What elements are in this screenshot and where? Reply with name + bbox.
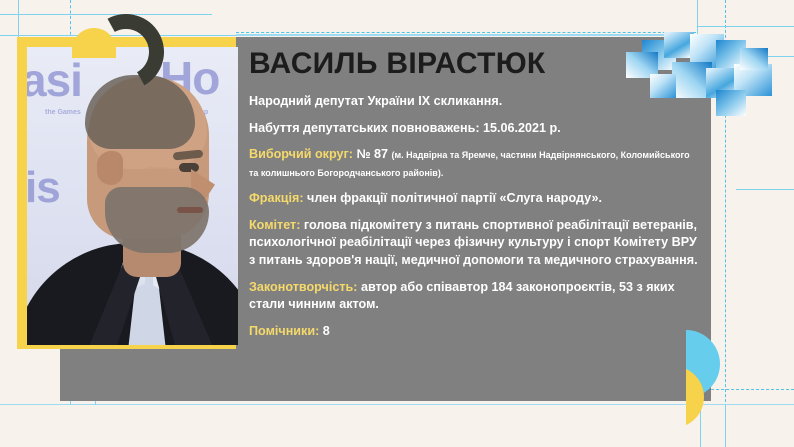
committee-label: Комітет: <box>249 218 304 232</box>
lawmaking-label: Законотворчість: <box>249 280 361 294</box>
faction-label: Фракція: <box>249 191 307 205</box>
page-title: ВАСИЛЬ ВІРАСТЮК <box>249 48 701 79</box>
committee: Комітет: голова підкомітету з питань спо… <box>249 217 701 270</box>
assistants-value: 8 <box>323 324 330 338</box>
deputy-photo: asi Ho hi is the Games ity Group <box>27 47 238 345</box>
guide-line-horizontal-top <box>0 14 212 15</box>
guide-line-vertical-left <box>18 0 19 37</box>
electoral-district: Виборчий округ: № 87 (м. Надвірна та Яре… <box>249 146 701 181</box>
faction-value: член фракції політичної партії «Слуга на… <box>307 191 602 205</box>
beard <box>105 187 209 253</box>
eye <box>179 163 199 172</box>
lawmaking: Законотворчість: автор або співавтор 184… <box>249 279 701 314</box>
deputy-status: Народний депутат України IX скликання. <box>249 93 701 110</box>
committee-value: голова підкомітету з питань спортивної р… <box>249 218 698 267</box>
guide-line-vertical-dashed-left <box>70 0 71 40</box>
ear <box>97 151 123 185</box>
mandate-date: Набуття депутатських повноважень: 15.06.… <box>249 120 701 137</box>
faction: Фракція: член фракції політичної партії … <box>249 190 701 208</box>
poster-canvas: asi Ho hi is the Games ity Group <box>0 0 794 447</box>
electoral-district-label: Виборчий округ: <box>249 147 356 161</box>
assistants: Помічники: 8 <box>249 323 701 341</box>
electoral-district-value: № 87 <box>356 147 391 161</box>
guide-line-horizontal-right-c <box>736 189 794 190</box>
person-figure <box>27 47 238 345</box>
profile-content: ВАСИЛЬ ВІРАСТЮК Народний депутат України… <box>249 48 701 350</box>
mouth <box>177 207 203 213</box>
assistants-label: Помічники: <box>249 324 323 338</box>
guide-line-horizontal-bottom <box>0 404 794 405</box>
